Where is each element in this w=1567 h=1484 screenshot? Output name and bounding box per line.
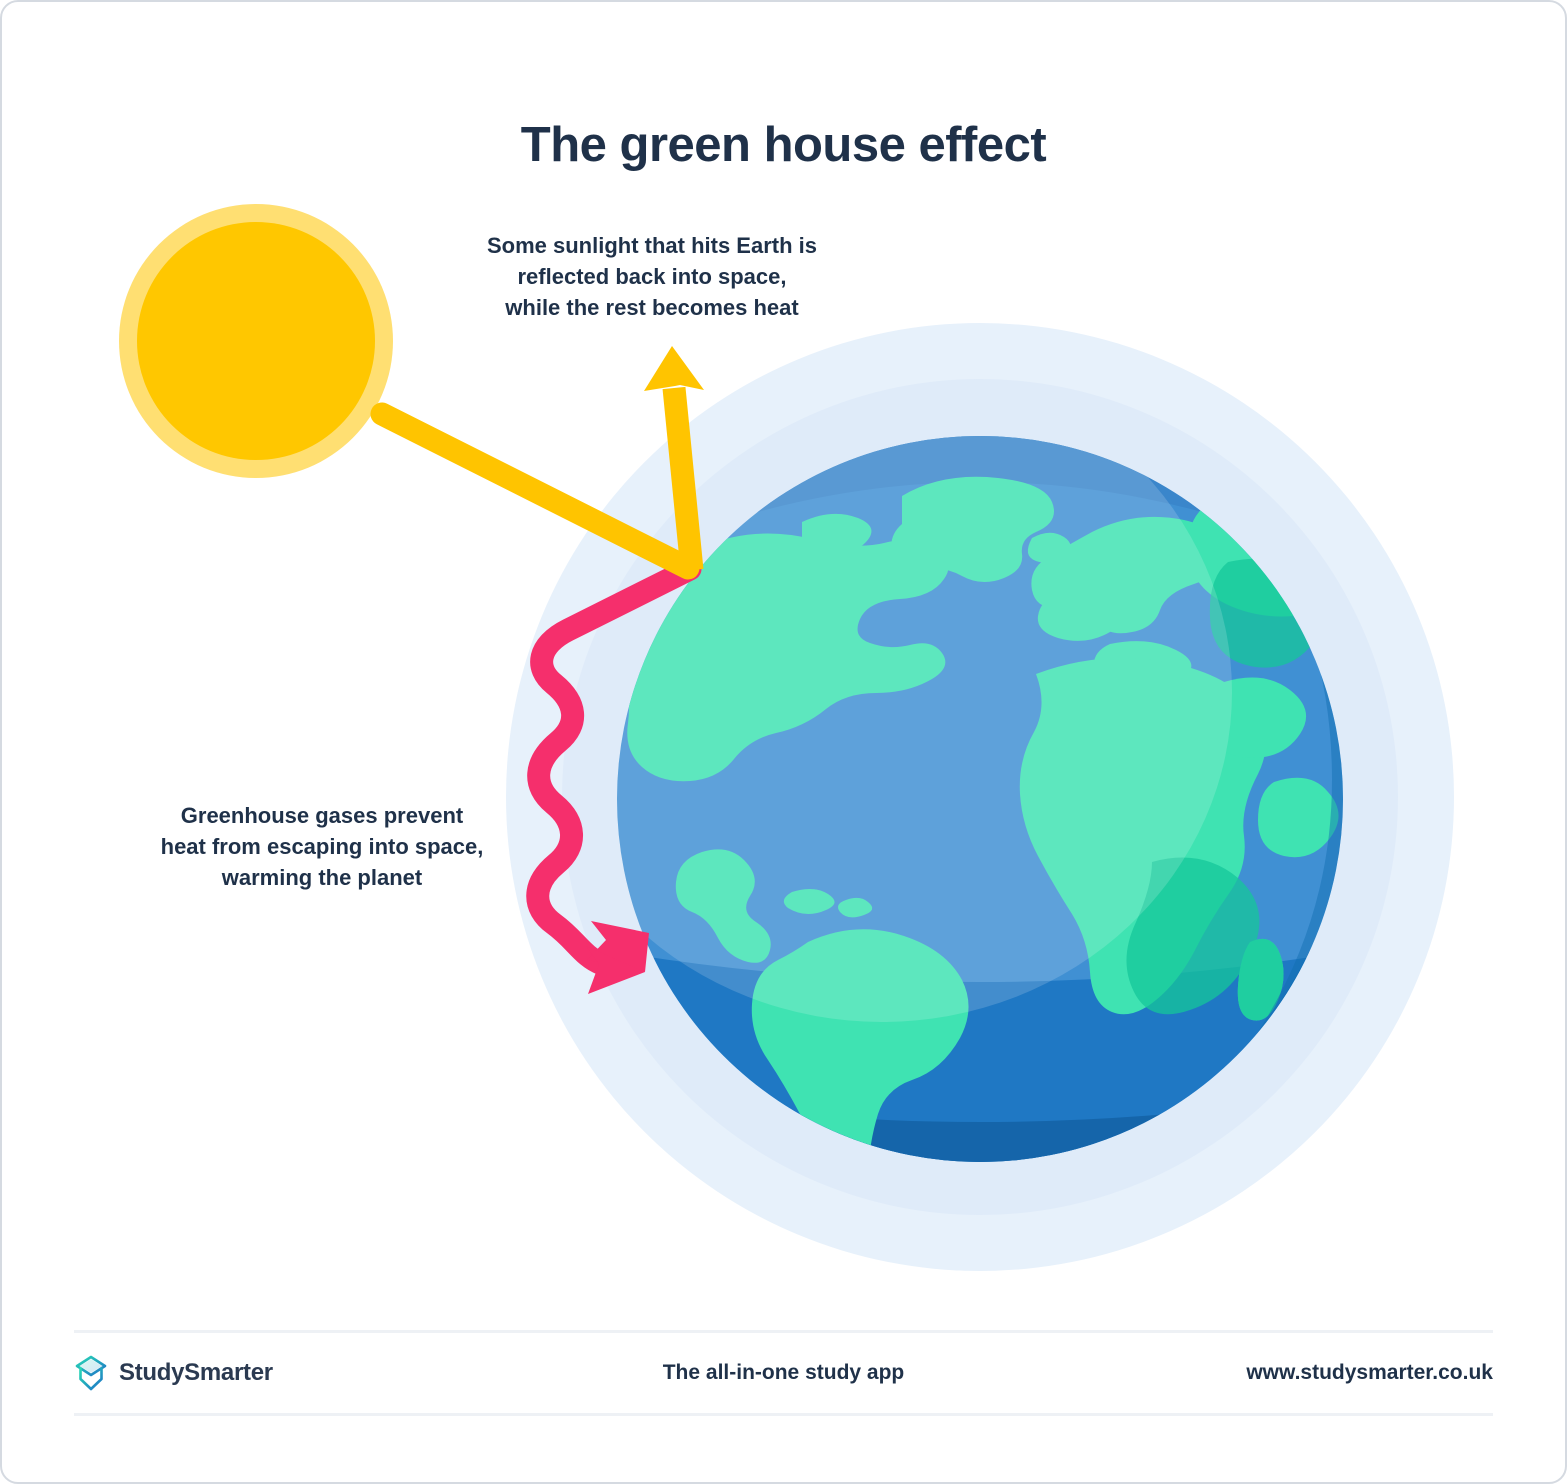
trapped-heat-wavy-arrow bbox=[538, 569, 690, 994]
footer-tagline: The all-in-one study app bbox=[542, 1361, 1024, 1385]
footer: StudySmarter The all-in-one study app ww… bbox=[74, 1330, 1493, 1416]
earth-atmosphere bbox=[506, 323, 1454, 1271]
incoming-sunlight-ray bbox=[382, 414, 688, 568]
diagram-canvas bbox=[2, 2, 1567, 1484]
brand-block[interactable]: StudySmarter bbox=[74, 1355, 542, 1391]
footer-website[interactable]: www.studysmarter.co.uk bbox=[1025, 1361, 1493, 1385]
page-title: The green house effect bbox=[2, 117, 1565, 173]
earth-terminator-shadow bbox=[1158, 404, 1409, 1134]
annotation-sunlight: Some sunlight that hits Earth is reflect… bbox=[422, 230, 882, 324]
studysmarter-box-logo-icon bbox=[74, 1355, 108, 1391]
annotation-greenhouse: Greenhouse gases prevent heat from escap… bbox=[92, 800, 552, 894]
infographic-card: The green house effect bbox=[0, 0, 1567, 1484]
earth-land-shadow bbox=[1126, 559, 1325, 1021]
brand-name: StudySmarter bbox=[119, 1359, 273, 1387]
earth-globe bbox=[532, 362, 1422, 1252]
reflected-sunlight-arrow bbox=[644, 346, 704, 570]
sun bbox=[119, 204, 393, 478]
earth-landmasses bbox=[613, 477, 1361, 1252]
